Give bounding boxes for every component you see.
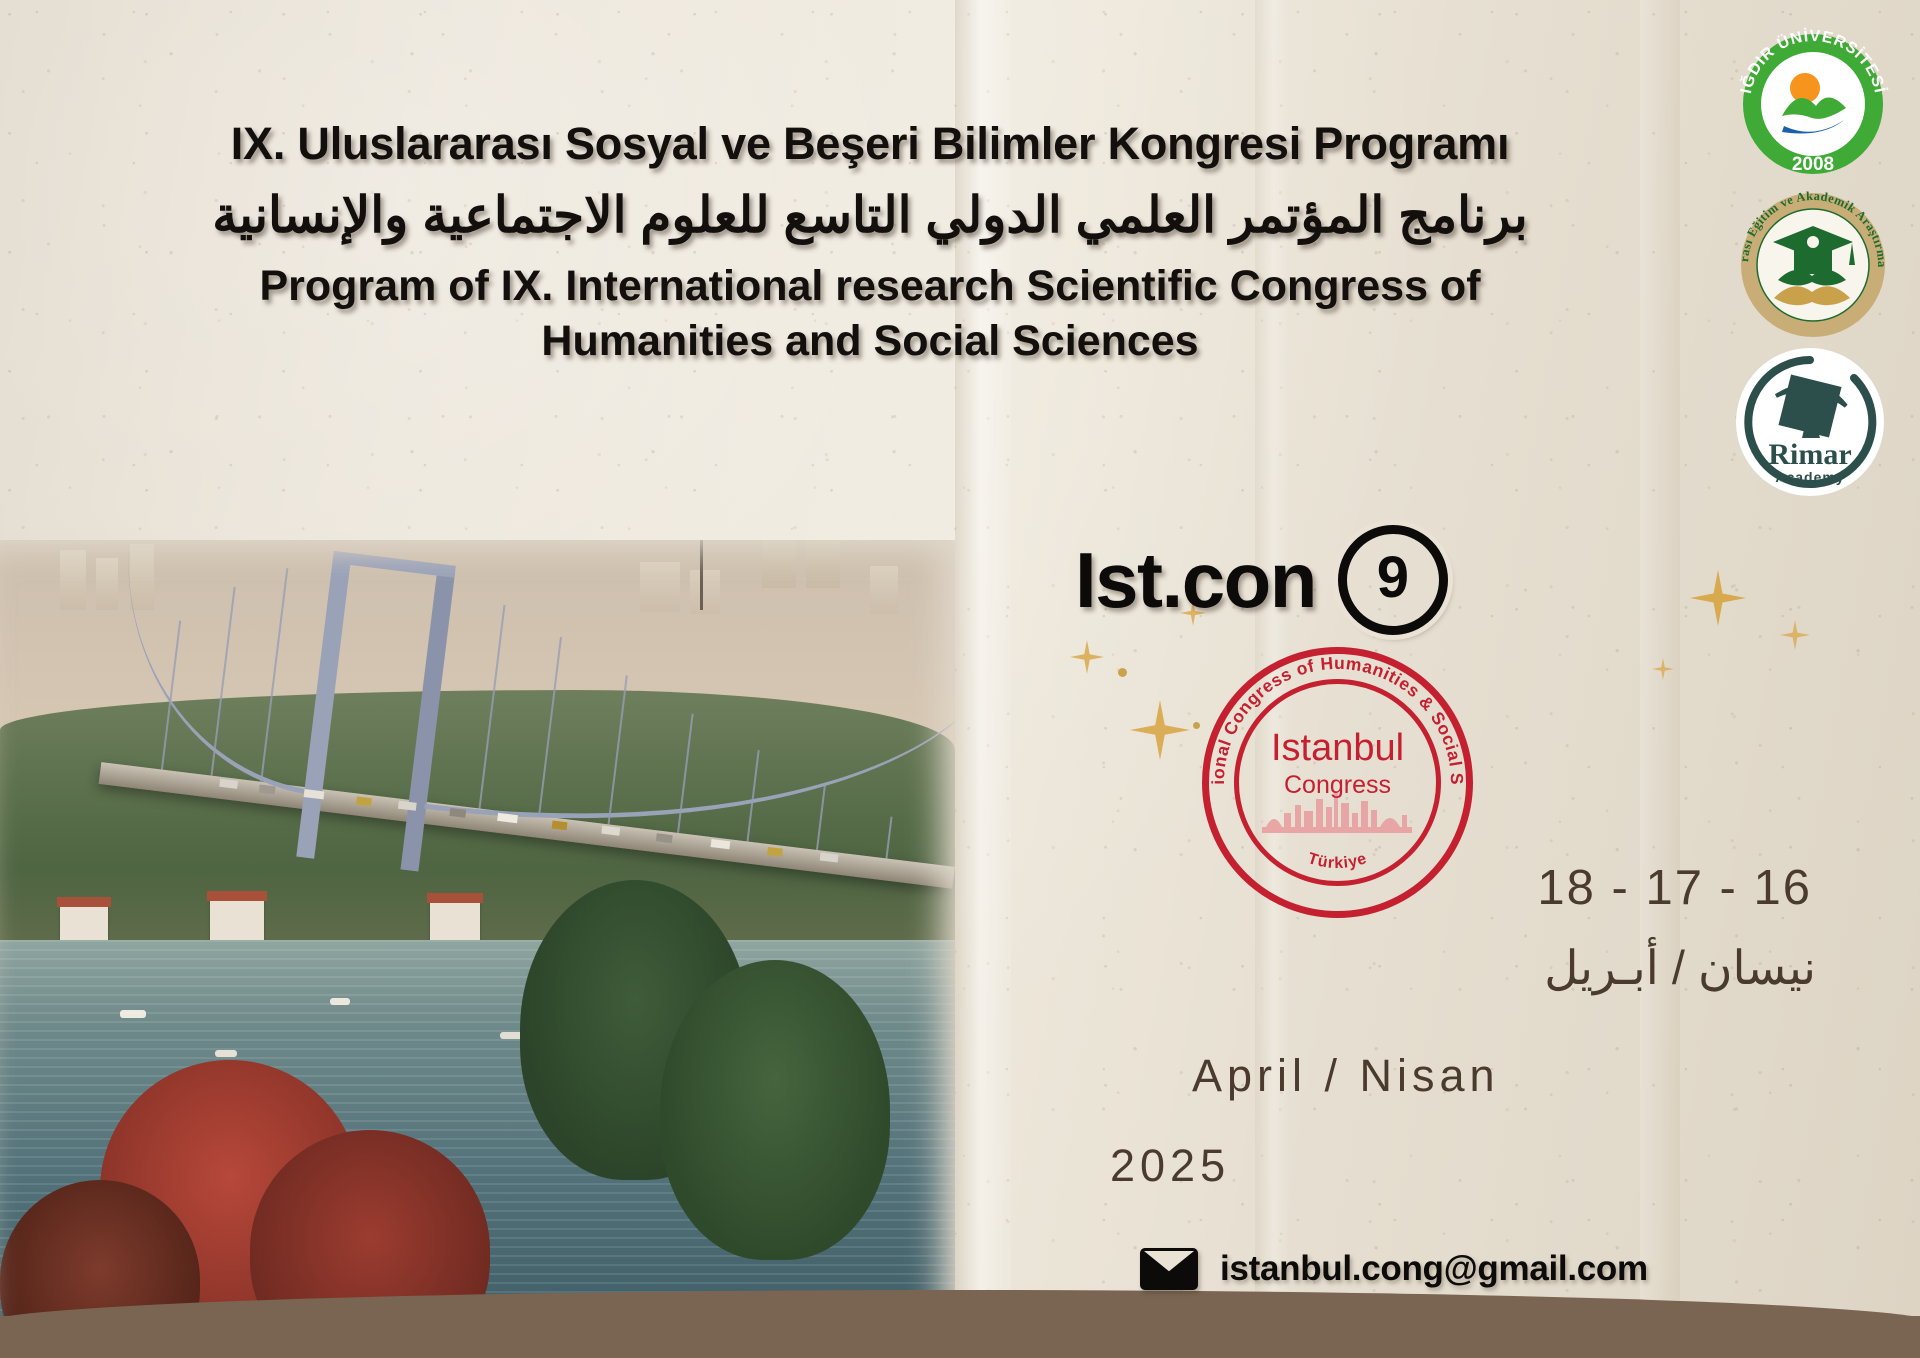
bosphorus-bridge-photo [0, 540, 955, 1358]
istcon-wordmark: Ist.con 9 [1075, 525, 1448, 635]
poster-headings: IX. Uluslararası Sosyal ve Beşeri Biliml… [0, 118, 1740, 369]
contact-email[interactable]: istanbul.cong@gmail.com [1140, 1248, 1648, 1290]
logo-rimar-subtitle: Academy [1775, 469, 1844, 485]
email-address[interactable]: istanbul.cong@gmail.com [1220, 1249, 1648, 1289]
sparkle-icon [1690, 570, 1746, 626]
logo-akademik-arastirmalar: Uluslararası Eğitim ve Akademik Araştırm… [1728, 180, 1902, 350]
sparkle-icon [1652, 658, 1674, 680]
edition-number-badge: 9 [1338, 525, 1448, 635]
congress-program-poster: IX. Uluslararası Sosyal ve Beşeri Biliml… [0, 0, 1920, 1358]
logo-rimar-academy: Rimar Academy [1730, 342, 1902, 502]
date-month-arabic: نيسان / أبـريل [1544, 940, 1816, 996]
logo-igdir-universitesi: IĞDIR ÜNİVERSİTESİ 2008 [1724, 12, 1902, 190]
sparkle-icon [1070, 640, 1104, 674]
envelope-icon [1140, 1248, 1198, 1290]
sparkle-icon [1130, 700, 1190, 760]
sparkle-dot [1193, 722, 1200, 729]
date-days: 18 - 17 - 16 [1537, 860, 1812, 916]
istcon-text: Ist.con [1075, 535, 1316, 626]
title-english-line1: Program of IX. International research Sc… [259, 262, 1480, 310]
svg-text:Türkiye: Türkiye [1306, 850, 1370, 872]
title-english: Program of IX. International research Sc… [210, 259, 1530, 369]
date-month-latin: April / Nisan [1192, 1050, 1500, 1102]
title-english-line2: Humanities and Social Sciences [541, 317, 1198, 365]
title-arabic: برنامج المؤتمر العلمي الدولي التاسع للعل… [0, 186, 1740, 245]
logo-rimar-name: Rimar [1768, 438, 1851, 471]
title-turkish: IX. Uluslararası Sosyal ve Beşeri Biliml… [0, 118, 1740, 170]
sparkle-icon [1780, 620, 1810, 650]
istanbul-congress-stamp: International Congress of Humanities & S… [1200, 645, 1475, 920]
edition-number: 9 [1377, 549, 1409, 607]
stamp-country: Türkiye [1306, 850, 1370, 872]
bottom-accent-strip [0, 1316, 1920, 1358]
date-year: 2025 [1110, 1140, 1230, 1192]
logo-igdir-year: 2008 [1792, 154, 1834, 175]
sparkle-dot [1118, 668, 1127, 677]
partner-logos: IĞDIR ÜNİVERSİTESİ 2008 [1724, 12, 1902, 502]
